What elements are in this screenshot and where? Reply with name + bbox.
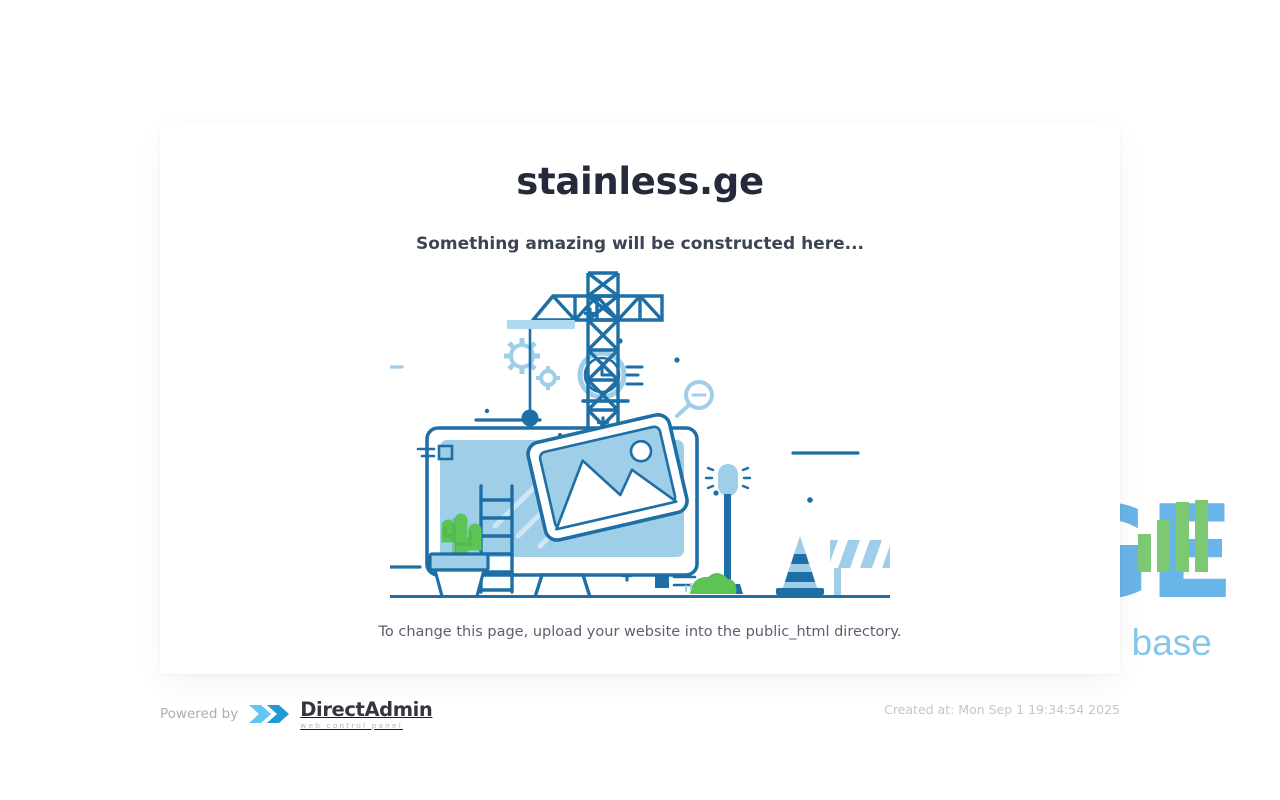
directadmin-chevron-icon: [247, 701, 293, 727]
page-subtitle: Something amazing will be constructed he…: [160, 234, 1120, 254]
content-card: stainless.ge Something amazing will be c…: [160, 123, 1120, 674]
traffic-cone-icon: [776, 536, 824, 595]
directadmin-wordmark: DirectAdmin web control panel: [300, 700, 432, 729]
clock-lines: [627, 367, 642, 384]
road-barrier-icon: [828, 540, 890, 595]
gears-icon: [504, 338, 560, 390]
directadmin-logo-link[interactable]: DirectAdmin web control panel: [247, 700, 432, 729]
illustration-container: [160, 268, 1120, 598]
crane-counterweight: [507, 320, 575, 329]
list-glyph-bottom: [655, 574, 695, 588]
page-title: stainless.ge: [160, 160, 1120, 204]
magnifier-icon: [677, 382, 712, 416]
under-construction-illustration: [390, 268, 890, 598]
powered-by-block: Powered by DirectAdmin web control panel: [160, 700, 432, 729]
powered-by-label: Powered by: [160, 706, 238, 722]
created-at-timestamp: Created at: Mon Sep 1 19:34:54 2025: [884, 702, 1120, 717]
page-footer: Powered by DirectAdmin web control panel…: [160, 690, 1120, 730]
upload-instruction: To change this page, upload your website…: [160, 624, 1120, 640]
plant-pot: [430, 554, 488, 598]
directadmin-name: DirectAdmin: [300, 700, 432, 720]
page-root: .GE domain base stainless.ge Something a…: [0, 0, 1280, 800]
ge-growth-bars-icon: [1138, 500, 1220, 572]
directadmin-tagline: web control panel: [300, 722, 432, 729]
